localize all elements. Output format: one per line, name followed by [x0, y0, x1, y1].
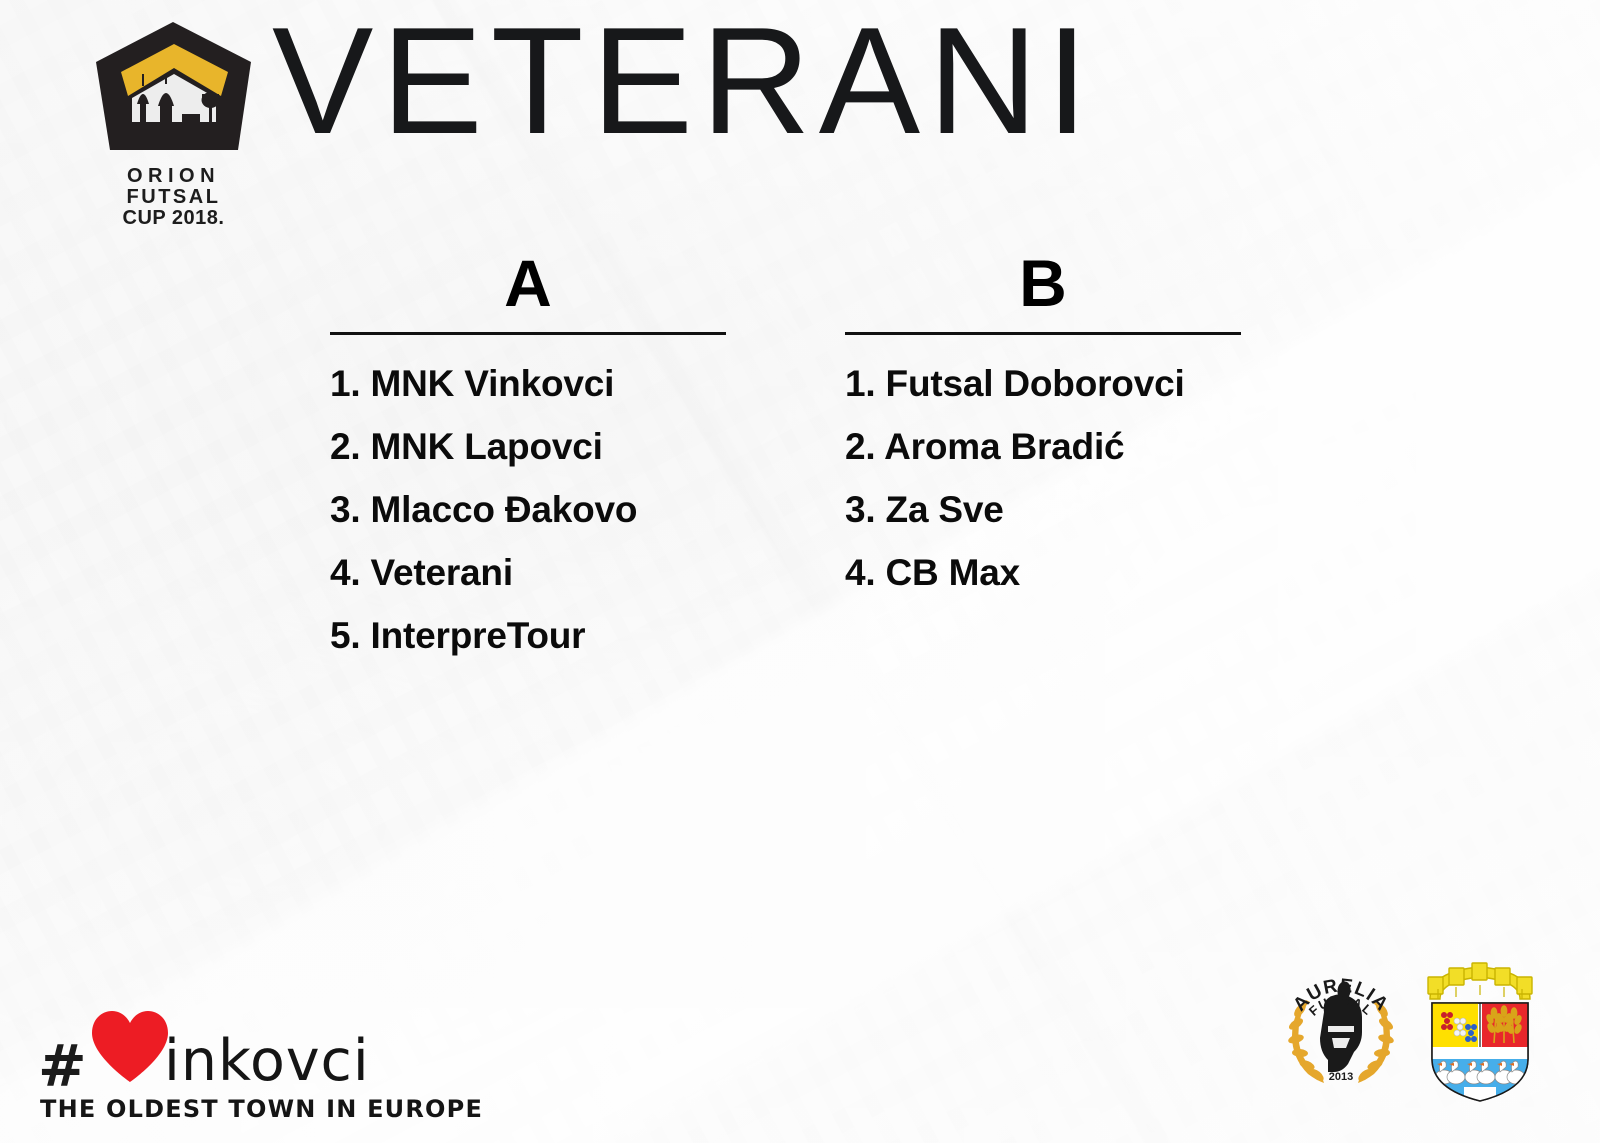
list-item: 2. Aroma Bradić: [845, 428, 1241, 465]
list-item: 4. Veterani: [330, 554, 726, 591]
group-a-letter: A: [330, 250, 726, 316]
aurelia-year: 2013: [1329, 1071, 1353, 1083]
list-item: 3. Mlacco Đakovo: [330, 491, 726, 528]
orion-logo-text: ORION FUTSAL CUP 2018.: [96, 166, 251, 230]
orion-pentagon-mark: [88, 18, 258, 168]
vinkovci-coat-of-arms: [1416, 955, 1544, 1103]
mural-crown: [1428, 963, 1532, 999]
list-item: 3. Za Sve: [845, 491, 1241, 528]
orion-logo-line1: ORION: [96, 166, 251, 187]
list-item: 2. MNK Lapovci: [330, 428, 726, 465]
vinkovci-city-logo: # inkovci THE OLDEST TOWN IN EUROPE: [36, 1003, 336, 1125]
group-a-team-list: 1. MNK Vinkovci 2. MNK Lapovci 3. Mlacco…: [330, 365, 726, 654]
orion-futsal-cup-logo: ORION FUTSAL CUP 2018.: [88, 18, 258, 233]
hash-symbol: #: [38, 1037, 87, 1095]
group-b-team-list: 1. Futsal Doborovci 2. Aroma Bradić 3. Z…: [845, 365, 1241, 591]
list-item: 1. MNK Vinkovci: [330, 365, 726, 402]
group-b-letter: B: [845, 250, 1241, 316]
group-b-divider: [845, 332, 1241, 335]
orion-logo-line2: FUTSAL: [96, 187, 251, 208]
poster-canvas: ORION FUTSAL CUP 2018. VETERANI A 1. MNK…: [0, 0, 1600, 1143]
vinkovci-logo-row: # inkovci: [36, 1003, 336, 1091]
group-a: A 1. MNK Vinkovci 2. MNK Lapovci 3. Mlac…: [330, 250, 726, 680]
aurelia-futsal-logo: AURELIA FUTSAL 2013: [1276, 952, 1406, 1092]
list-item: 4. CB Max: [845, 554, 1241, 591]
list-item: 5. InterpreTour: [330, 617, 726, 654]
group-b: B 1. Futsal Doborovci 2. Aroma Bradić 3.…: [845, 250, 1241, 617]
group-a-divider: [330, 332, 726, 335]
page-title: VETERANI: [272, 2, 1096, 162]
orion-logo-line3: CUP 2018.: [96, 208, 251, 229]
vinkovci-tagline: THE OLDEST TOWN IN EUROPE: [40, 1095, 483, 1123]
vinkovci-wordmark: inkovci: [164, 1033, 370, 1090]
shield: [1432, 1003, 1528, 1103]
list-item: 1. Futsal Doborovci: [845, 365, 1241, 402]
heart-icon: [88, 1009, 172, 1085]
